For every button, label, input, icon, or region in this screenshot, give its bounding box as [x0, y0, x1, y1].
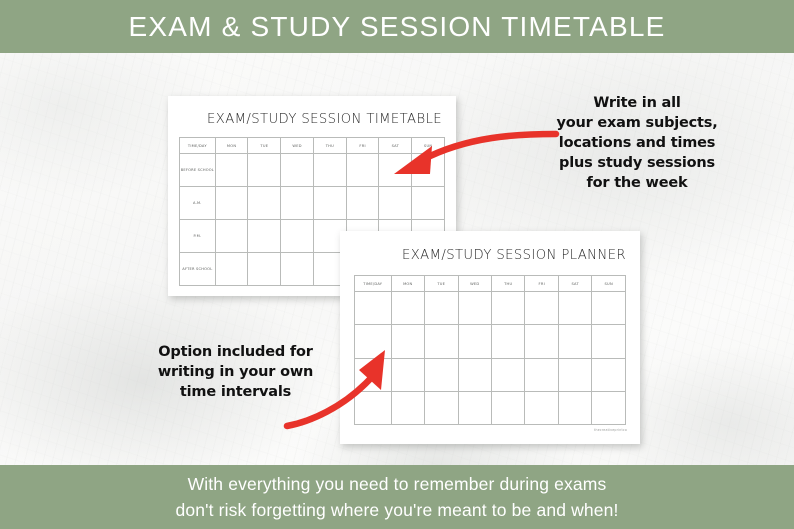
column-header-wed: WED: [458, 276, 491, 292]
column-header-thu: THU: [313, 138, 346, 154]
row-label-am: A.M.: [180, 187, 216, 220]
column-header-fri: FRI: [346, 138, 379, 154]
cell[interactable]: [525, 358, 558, 391]
cell[interactable]: [248, 220, 281, 253]
cell[interactable]: [592, 358, 626, 391]
cell[interactable]: [458, 391, 491, 424]
annotation-right-line: locations and times: [492, 133, 782, 153]
cell[interactable]: [425, 292, 458, 325]
cell[interactable]: [491, 292, 524, 325]
bottom-banner-line-1: With everything you need to remember dur…: [188, 471, 607, 497]
cell[interactable]: [425, 325, 458, 358]
cell[interactable]: [425, 358, 458, 391]
column-header-sun: SUN: [592, 276, 626, 292]
annotation-right-line: Write in all: [492, 93, 782, 113]
cell[interactable]: [425, 391, 458, 424]
annotation-right: Write in all your exam subjects, locatio…: [492, 93, 782, 193]
watermark: thecreativeprintco: [594, 428, 627, 432]
page-title: EXAM & STUDY SESSION TIMETABLE: [128, 11, 665, 43]
annotation-left: Option included for writing in your own …: [128, 342, 343, 402]
column-header-timeday: TIME/DAY: [355, 276, 392, 292]
cell[interactable]: [525, 292, 558, 325]
cell[interactable]: [281, 220, 314, 253]
cell[interactable]: [525, 325, 558, 358]
cell[interactable]: [458, 358, 491, 391]
annotation-right-line: plus study sessions: [492, 153, 782, 173]
annotation-right-line: for the week: [492, 173, 782, 193]
column-header-tue: TUE: [425, 276, 458, 292]
annotation-left-line: Option included for: [128, 342, 343, 362]
bottom-banner: With everything you need to remember dur…: [0, 465, 794, 529]
cell[interactable]: [391, 292, 424, 325]
cell[interactable]: [525, 391, 558, 424]
cell[interactable]: [592, 292, 626, 325]
column-header-thu: THU: [491, 276, 524, 292]
cell[interactable]: [346, 187, 379, 220]
cell[interactable]: [313, 154, 346, 187]
table-header-row: TIME/DAY MON TUE WED THU FRI SAT SUN: [355, 276, 626, 292]
cell[interactable]: [558, 325, 591, 358]
cell[interactable]: [248, 154, 281, 187]
cell[interactable]: [281, 187, 314, 220]
column-header-sat: SAT: [558, 276, 591, 292]
cell[interactable]: [558, 292, 591, 325]
cell[interactable]: [491, 391, 524, 424]
row-label-pm: P.M.: [180, 220, 216, 253]
cell[interactable]: [491, 325, 524, 358]
annotation-left-line: writing in your own: [128, 362, 343, 382]
cell[interactable]: [558, 391, 591, 424]
bottom-banner-line-2: don't risk forgetting where you're meant…: [175, 497, 618, 523]
cell[interactable]: [248, 253, 281, 286]
column-header-wed: WED: [281, 138, 314, 154]
column-header-tue: TUE: [248, 138, 281, 154]
timetable-sheet-title: EXAM/STUDY SESSION TIMETABLE: [207, 112, 442, 127]
cell[interactable]: [281, 154, 314, 187]
row-label-before-school: BEFORE SCHOOL: [180, 154, 216, 187]
cell[interactable]: [458, 325, 491, 358]
cell[interactable]: [491, 358, 524, 391]
annotation-left-line: time intervals: [128, 382, 343, 402]
column-header-mon: MON: [391, 276, 424, 292]
cell[interactable]: [558, 358, 591, 391]
row-label-after-school: AFTER SCHOOL: [180, 253, 216, 286]
annotation-right-line: your exam subjects,: [492, 113, 782, 133]
column-header-mon: MON: [215, 138, 248, 154]
cell[interactable]: [346, 154, 379, 187]
cell[interactable]: [215, 253, 248, 286]
column-header-fri: FRI: [525, 276, 558, 292]
cell[interactable]: [379, 187, 412, 220]
cell[interactable]: [592, 325, 626, 358]
cell[interactable]: [215, 220, 248, 253]
cell[interactable]: [412, 187, 445, 220]
row-label-blank[interactable]: [355, 292, 392, 325]
cell[interactable]: [248, 187, 281, 220]
table-row: A.M.: [180, 187, 445, 220]
cell[interactable]: [313, 187, 346, 220]
cell[interactable]: [215, 154, 248, 187]
column-header-timeday: TIME/DAY: [180, 138, 216, 154]
top-banner: EXAM & STUDY SESSION TIMETABLE: [0, 0, 794, 53]
cell[interactable]: [592, 391, 626, 424]
table-row: [355, 292, 626, 325]
planner-sheet-title: EXAM/STUDY SESSION PLANNER: [402, 248, 626, 263]
cell[interactable]: [281, 253, 314, 286]
cell[interactable]: [215, 187, 248, 220]
cell[interactable]: [458, 292, 491, 325]
